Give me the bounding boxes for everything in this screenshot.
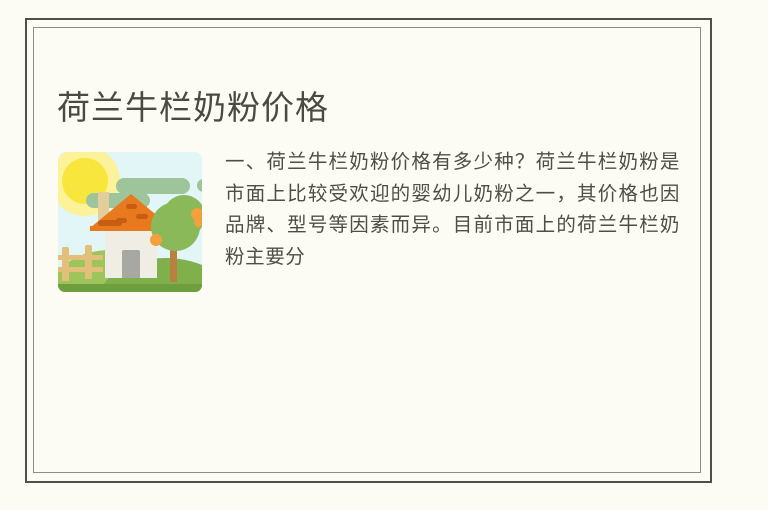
article-page: 荷兰牛栏奶粉价格 <box>0 0 768 510</box>
article-body: 一、荷兰牛栏奶粉价格有多少种？荷兰牛栏奶粉是市面上比较受欢迎的婴幼儿奶粉之一，其… <box>52 145 680 325</box>
roof-tile <box>98 220 122 226</box>
fence-post <box>85 245 92 279</box>
page-title: 荷兰牛栏奶粉价格 <box>57 87 329 129</box>
house-door <box>122 250 140 278</box>
roof-tile <box>136 214 148 219</box>
fruit-icon <box>194 218 202 227</box>
roof-tile <box>126 204 137 209</box>
fruit-icon <box>150 234 162 246</box>
countryside-house-illustration <box>52 148 207 296</box>
cloud-icon <box>116 178 190 194</box>
illustration-sky <box>58 152 202 292</box>
article-content: 荷兰牛栏奶粉价格 <box>33 27 701 473</box>
cloud-dot-icon <box>197 179 202 192</box>
fence-post <box>62 247 69 281</box>
ground-strip <box>58 284 202 292</box>
